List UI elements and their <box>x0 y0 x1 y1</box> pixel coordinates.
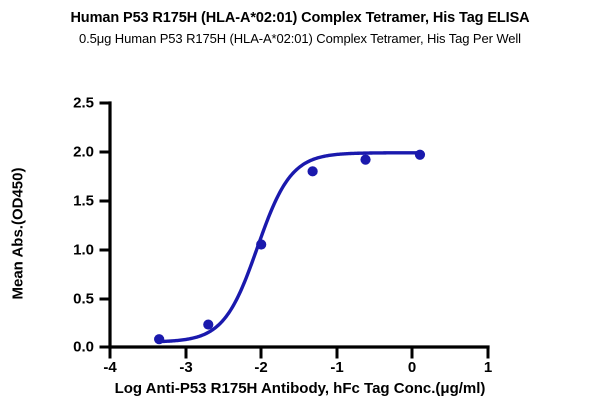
x-tick-label: 1 <box>468 359 508 376</box>
data-point <box>203 319 213 329</box>
data-point <box>415 150 425 160</box>
data-point <box>360 155 370 165</box>
x-tick-label: -4 <box>90 359 130 376</box>
data-point <box>308 166 318 176</box>
x-tick-label: -1 <box>317 359 357 376</box>
y-tick-label: 1.0 <box>50 242 94 259</box>
data-point <box>256 239 266 249</box>
y-tick-label: 0.0 <box>50 339 94 356</box>
axes <box>110 103 488 347</box>
y-tick-label: 0.5 <box>50 291 94 308</box>
plot-area <box>0 0 600 419</box>
y-tick-label: 2.5 <box>50 95 94 112</box>
x-tick-label: -2 <box>241 359 281 376</box>
x-tick-label: 0 <box>392 359 432 376</box>
elisa-chart-figure: Human P53 R175H (HLA-A*02:01) Complex Te… <box>0 0 600 419</box>
sigmoid-fit-curve <box>159 153 420 342</box>
data-point <box>154 334 164 344</box>
x-axis-label: Log Anti-P53 R175H Antibody, hFc Tag Con… <box>0 380 600 397</box>
y-tick-label: 1.5 <box>50 193 94 210</box>
y-tick-label: 2.0 <box>50 144 94 161</box>
x-tick-label: -3 <box>166 359 206 376</box>
y-axis-label: Mean Abs.(OD450) <box>10 134 27 334</box>
